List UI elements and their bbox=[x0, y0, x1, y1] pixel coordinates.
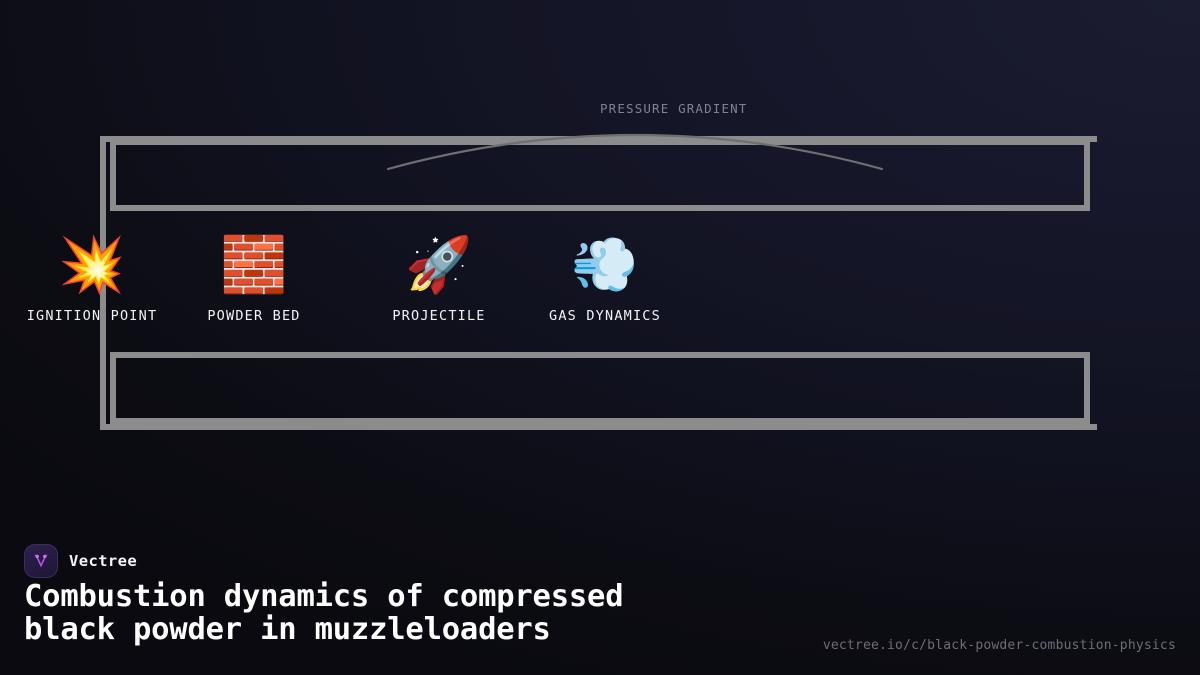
lower-chamber-box bbox=[113, 355, 1087, 421]
brick-icon: 🧱 bbox=[159, 228, 349, 302]
card-footer: Vectree Combustion dynamics of compresse… bbox=[0, 520, 1200, 675]
vectree-glyph-icon bbox=[31, 551, 51, 571]
node-label-projectile: PROJECTILE bbox=[344, 308, 534, 324]
brand[interactable]: Vectree bbox=[24, 544, 137, 578]
share-card: PRESSURE GRADIENT 💥 IGNITION POINT 🧱 POW… bbox=[0, 0, 1200, 675]
rocket-icon: 🚀 bbox=[344, 228, 534, 302]
vectree-logo bbox=[24, 544, 58, 578]
combustion-diagram: PRESSURE GRADIENT 💥 IGNITION POINT 🧱 POW… bbox=[0, 0, 1200, 520]
source-url: vectree.io/c/black-powder-combustion-phy… bbox=[823, 638, 1176, 653]
node-powder-bed[interactable]: 🧱 POWDER BED bbox=[159, 228, 349, 324]
dash-wind-icon: 💨 bbox=[510, 228, 700, 302]
node-projectile[interactable]: 🚀 PROJECTILE bbox=[344, 228, 534, 324]
page-title: Combustion dynamics of compressed black … bbox=[24, 580, 814, 646]
node-gas-dynamics[interactable]: 💨 GAS DYNAMICS bbox=[510, 228, 700, 324]
pressure-gradient-label: PRESSURE GRADIENT bbox=[600, 101, 748, 116]
brand-name: Vectree bbox=[69, 552, 137, 570]
node-label-gas-dynamics: GAS DYNAMICS bbox=[510, 308, 700, 324]
upper-chamber-box bbox=[113, 142, 1087, 208]
node-label-powder-bed: POWDER BED bbox=[159, 308, 349, 324]
